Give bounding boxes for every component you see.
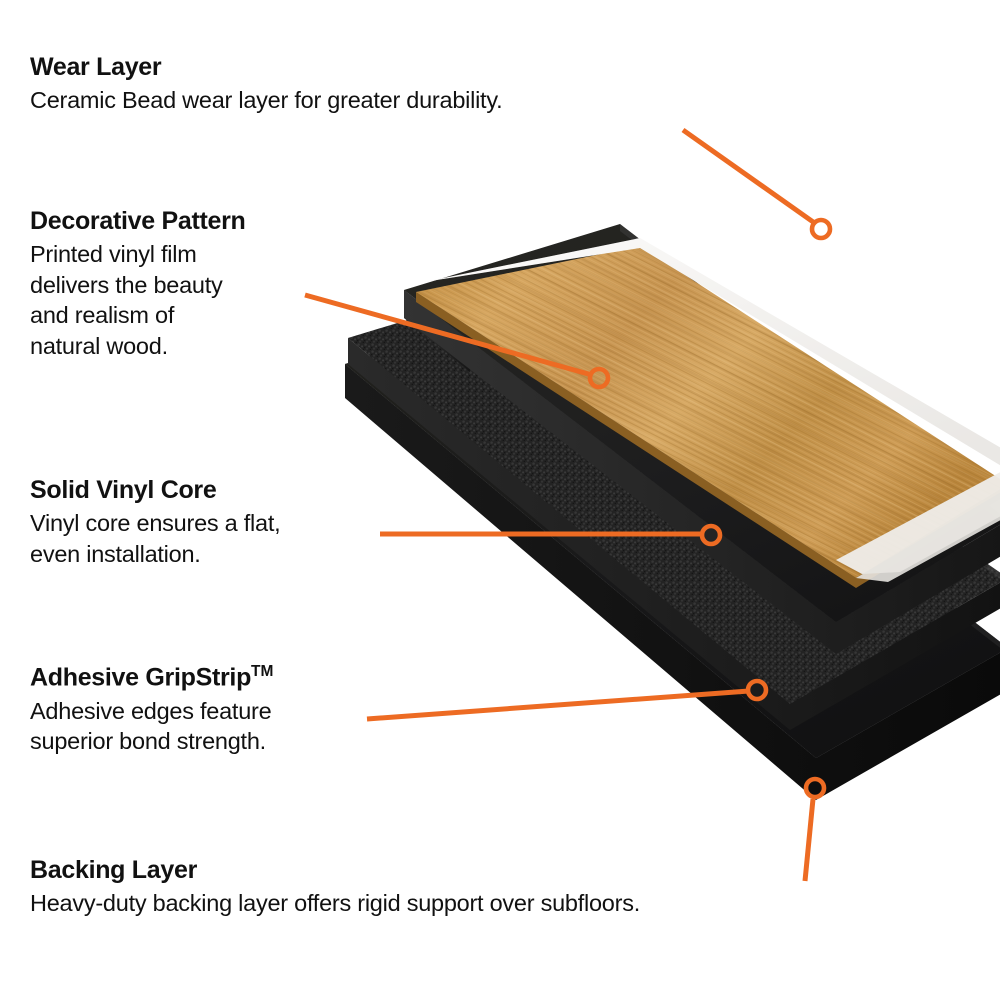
leader-wear-layer: [683, 130, 816, 224]
callout-body-adhesive-gripstrip: Adhesive edges feature superior bond str…: [30, 696, 273, 757]
callout-title-text: Adhesive GripStrip: [30, 664, 251, 692]
callout-body-line: natural wood.: [30, 331, 246, 362]
callout-body-line: Heavy-duty backing layer offers rigid su…: [30, 888, 640, 919]
marker-wear-layer: [812, 220, 830, 238]
callout-title-wear-layer: Wear Layer: [30, 52, 502, 83]
callout-body-solid-vinyl-core: Vinyl core ensures a flat, even installa…: [30, 508, 280, 569]
callout-body-line: even installation.: [30, 539, 280, 570]
callout-body-line: and realism of: [30, 300, 246, 331]
callout-body-backing-layer: Heavy-duty backing layer offers rigid su…: [30, 888, 640, 919]
callout-body-line: Adhesive edges feature: [30, 696, 273, 727]
leader-backing-layer: [805, 799, 813, 881]
callout-body-line: Ceramic Bead wear layer for greater dura…: [30, 85, 502, 116]
diagram-canvas: Wear Layer Ceramic Bead wear layer for g…: [0, 0, 1000, 1000]
callout-title-solid-vinyl-core: Solid Vinyl Core: [30, 475, 280, 506]
callout-body-wear-layer: Ceramic Bead wear layer for greater dura…: [30, 85, 502, 116]
callout-body-line: Vinyl core ensures a flat,: [30, 508, 280, 539]
callout-title-backing-layer: Backing Layer: [30, 855, 640, 886]
callout-decorative-pattern: Decorative Pattern Printed vinyl film de…: [30, 206, 246, 361]
callout-adhesive-gripstrip: Adhesive GripStripTM Adhesive edges feat…: [30, 662, 273, 757]
callout-solid-vinyl-core: Solid Vinyl Core Vinyl core ensures a fl…: [30, 475, 280, 569]
leader-adhesive-gripstrip: [367, 691, 749, 719]
callout-body-line: delivers the beauty: [30, 270, 246, 301]
callout-wear-layer: Wear Layer Ceramic Bead wear layer for g…: [30, 52, 502, 116]
trademark-symbol: TM: [251, 663, 273, 680]
callout-backing-layer: Backing Layer Heavy-duty backing layer o…: [30, 855, 640, 919]
callout-body-line: Printed vinyl film: [30, 239, 246, 270]
callout-title-decorative-pattern: Decorative Pattern: [30, 206, 246, 237]
callout-body-line: superior bond strength.: [30, 726, 273, 757]
callout-title-adhesive-gripstrip: Adhesive GripStripTM: [30, 662, 273, 694]
callout-body-decorative-pattern: Printed vinyl film delivers the beauty a…: [30, 239, 246, 361]
